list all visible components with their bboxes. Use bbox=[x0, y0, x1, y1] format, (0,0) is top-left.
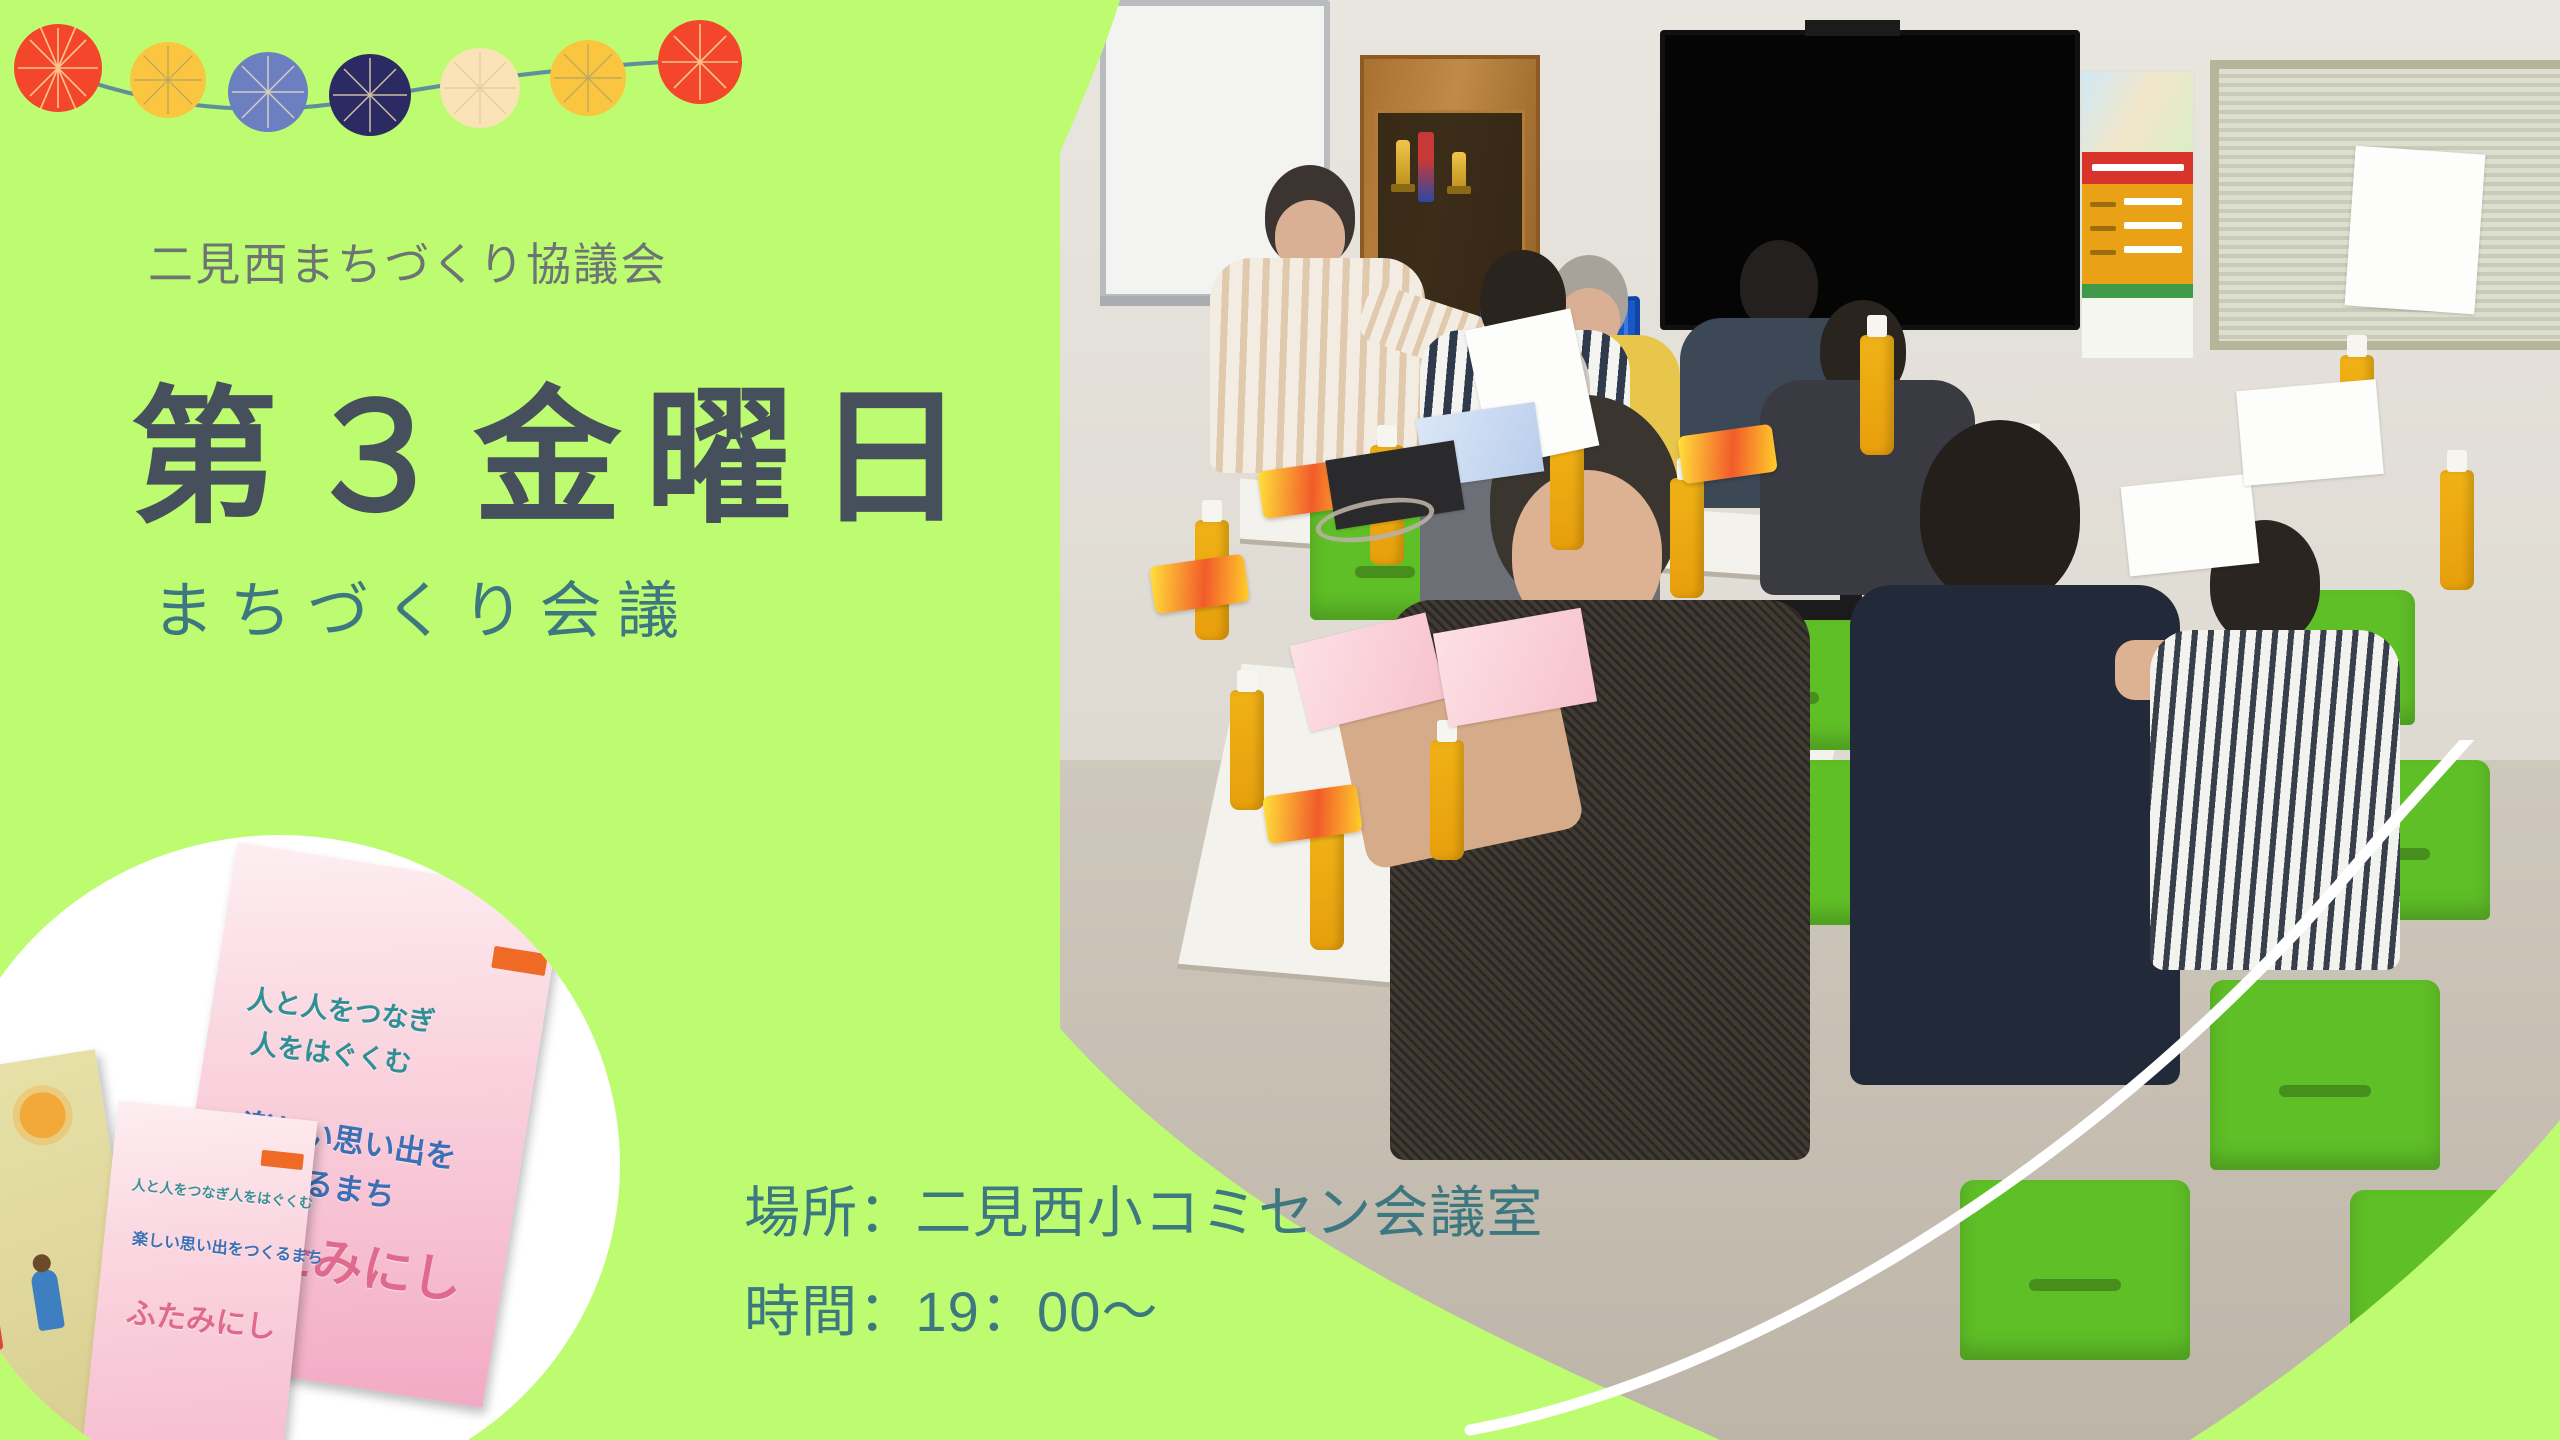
wall-television bbox=[1660, 30, 2080, 330]
sun-illustration bbox=[16, 1089, 69, 1142]
handout-paper bbox=[2345, 146, 2486, 315]
child-illustration bbox=[0, 1290, 4, 1353]
drink-bottle bbox=[1230, 690, 1264, 810]
drink-bottle bbox=[2440, 470, 2474, 590]
pompom-red-1 bbox=[14, 24, 102, 112]
chair bbox=[1960, 1180, 2190, 1360]
trophy-icon bbox=[1452, 152, 1466, 194]
poster-footer bbox=[2082, 298, 2193, 360]
chair bbox=[2210, 980, 2440, 1170]
handout-paper bbox=[2236, 379, 2384, 486]
page-subtitle: まちづくり会議 bbox=[152, 560, 695, 650]
event-time: 時間：19：00〜 bbox=[744, 1267, 1544, 1348]
pompom-navy-1 bbox=[329, 54, 411, 136]
poster-illustration bbox=[2082, 72, 2193, 152]
handout-paper bbox=[2121, 473, 2260, 576]
brochure-accent-tab bbox=[491, 946, 548, 976]
pompom-yellow-1 bbox=[130, 42, 206, 118]
drink-bottle bbox=[1430, 740, 1464, 860]
brochure-line-1: 人と人をつなぎ人をはぐくむ bbox=[131, 1174, 314, 1213]
poster-title-band bbox=[2082, 152, 2193, 184]
brochure-footer-text: まちづくり計画書 bbox=[0, 1435, 59, 1440]
brochure-accent-tab bbox=[261, 1150, 304, 1170]
chair bbox=[2350, 1190, 2560, 1360]
award-ribbon bbox=[1418, 132, 1434, 202]
brochure-line-2: 楽しい思い出をつくるまち bbox=[131, 1225, 324, 1269]
pompom-red-2 bbox=[658, 20, 742, 104]
pompom-blue-1 bbox=[228, 52, 308, 132]
pompom-yellow-2 bbox=[550, 40, 626, 116]
brochure-photo-circle: まちづくり計画書 人と人をつなぎ 人をはぐくむ 楽しい思い出を つくるまち ふた… bbox=[0, 835, 620, 1440]
drink-bottle bbox=[1310, 830, 1344, 950]
poster-canvas: 二見西まちづくり協議会 第３金曜日 まちづくり会議 まちづくり計画書 bbox=[0, 0, 2560, 1440]
wall-poster bbox=[2080, 70, 2195, 360]
poster-message-band bbox=[2082, 184, 2193, 284]
pink-brochure-small: 人と人をつなぎ人をはぐくむ 楽しい思い出をつくるまち ふたみにし bbox=[83, 1100, 318, 1440]
paper-pompom-garland bbox=[10, 10, 810, 140]
organization-name: 二見西まちづくり協議会 bbox=[148, 228, 668, 293]
event-details: 場所：二見西小コミセン会議室 時間：19：00〜 bbox=[744, 1168, 1544, 1366]
drink-bottle bbox=[1860, 335, 1894, 455]
event-place: 場所：二見西小コミセン会議室 bbox=[744, 1168, 1544, 1249]
child-illustration bbox=[30, 1268, 65, 1331]
trophy-icon bbox=[1396, 140, 1410, 192]
pompom-cream-1 bbox=[440, 48, 520, 128]
page-title: 第３金曜日 bbox=[130, 385, 988, 533]
brochure-title: ふたみにし bbox=[124, 1288, 278, 1347]
poster-green-band bbox=[2082, 284, 2193, 298]
tv-mount-arm bbox=[1805, 20, 1900, 36]
drink-bottle bbox=[1670, 478, 1704, 598]
